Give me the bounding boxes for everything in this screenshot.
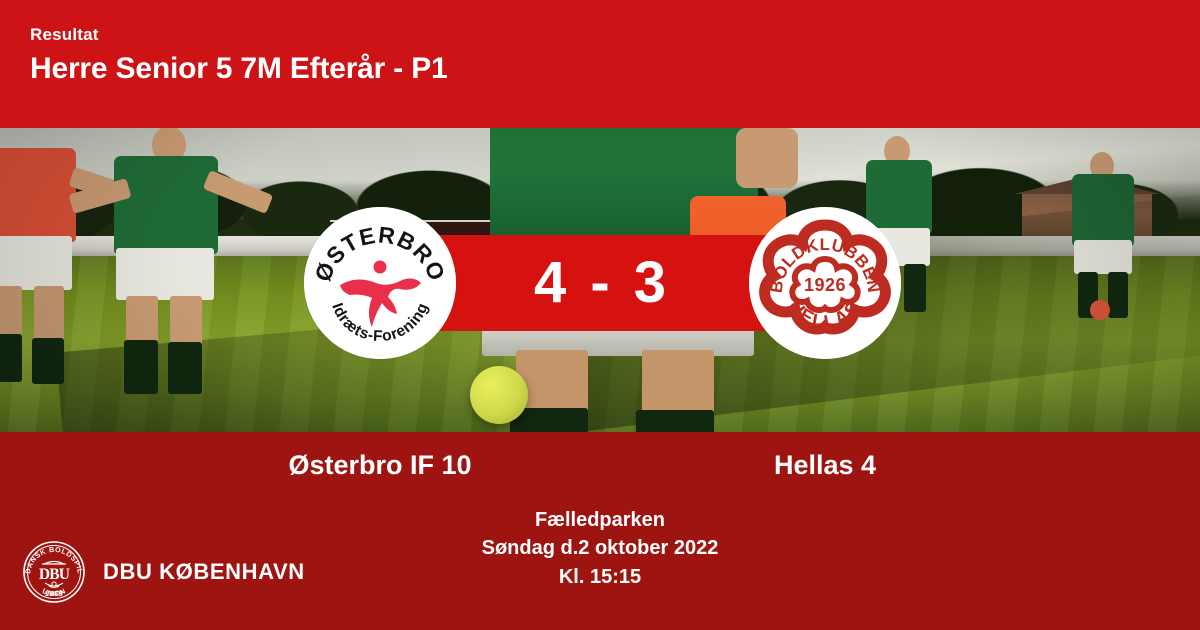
away-team-name: Hellas 4	[625, 450, 1025, 481]
home-team-logo: ØSTERBRO Idræts-Forening	[304, 207, 456, 359]
match-time: Kl. 15:15	[350, 563, 850, 591]
header-bar: Resultat Herre Senior 5 7M Efterår - P1	[0, 0, 1200, 128]
score-value: 4 - 3	[534, 254, 670, 312]
photo-player	[1058, 152, 1168, 382]
result-kicker-label: Resultat	[30, 26, 99, 43]
bk-hellas-crest-icon: BOLDKLUBBEN HELLAS 1926	[749, 207, 901, 359]
svg-text:DBU: DBU	[39, 566, 70, 583]
svg-text:1889: 1889	[45, 589, 64, 598]
away-team-logo: BOLDKLUBBEN HELLAS 1926	[749, 207, 901, 359]
photo-player	[86, 128, 286, 398]
home-team-name: Østerbro IF 10	[180, 450, 580, 481]
score-band: 4 - 3	[432, 235, 772, 331]
svg-text:1926: 1926	[804, 275, 846, 295]
dbu-organisation-label: DBU KØBENHAVN	[103, 561, 305, 583]
match-details: Fælledparken Søndag d.2 oktober 2022 Kl.…	[350, 506, 850, 591]
match-result-card: Resultat Herre Senior 5 7M Efterår - P1	[0, 0, 1200, 630]
match-date: Søndag d.2 oktober 2022	[350, 534, 850, 562]
dbu-seal-icon: DANSK BOLDSPIL UNION DBU 1889	[22, 540, 86, 604]
dbu-branding: DANSK BOLDSPIL UNION DBU 1889 DBU KØBENH…	[22, 540, 305, 604]
photo-football	[470, 366, 528, 424]
competition-title: Herre Senior 5 7M Efterår - P1	[30, 52, 448, 87]
osterbro-if-crest-icon: ØSTERBRO Idræts-Forening	[304, 207, 456, 359]
photo-football	[1090, 300, 1110, 320]
match-venue: Fælledparken	[350, 506, 850, 534]
